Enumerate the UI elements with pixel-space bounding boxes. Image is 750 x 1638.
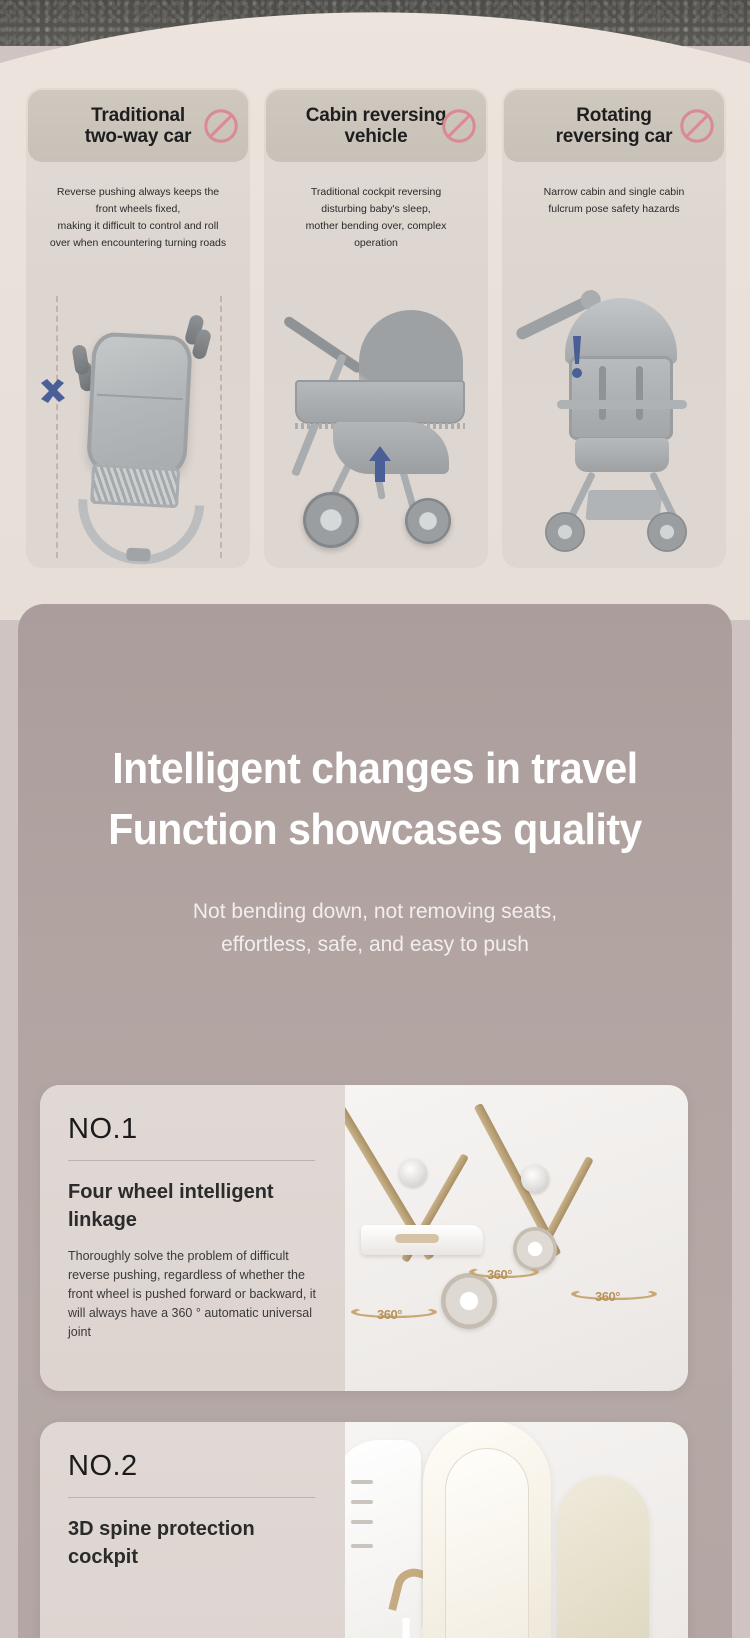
wheel-icon — [405, 498, 451, 544]
problem-card-description: Reverse pushing always keeps the front w… — [36, 184, 240, 252]
feature-card-text-panel: NO.1 Four wheel intelligent linkage Thor… — [40, 1085, 345, 1391]
blue-arrow-marker — [367, 444, 393, 484]
seat-cushion-side — [557, 1476, 649, 1638]
feature-card-text-panel: NO.2 3D spine protection cockpit — [40, 1422, 345, 1638]
problem-card-cabin-reversing-vehicle[interactable]: Cabin reversing vehicle Traditional cock… — [264, 88, 488, 568]
feature-card-no1[interactable]: NO.1 Four wheel intelligent linkage Thor… — [40, 1085, 688, 1391]
problems-section: Traditional two-way car Reverse pushing … — [0, 0, 750, 620]
prohibition-icon — [678, 107, 716, 145]
hero-title-line-2: Function showcases quality — [43, 800, 707, 861]
problem-card-title: Traditional two-way car — [85, 105, 192, 148]
feature-card-heading: Four wheel intelligent linkage — [68, 1178, 319, 1235]
rotation-ring-label: 360° — [377, 1307, 402, 1322]
wheel-icon — [513, 1227, 557, 1271]
feature-card-no2[interactable]: NO.2 3D spine protection cockpit — [40, 1422, 688, 1638]
feature-card-body: Thoroughly solve the problem of difficul… — [68, 1247, 319, 1342]
hero-subtitle: Not bending down, not removing seats, ef… — [18, 896, 732, 961]
stroller-side-view-illustration — [264, 278, 488, 568]
problem-card-description: Narrow cabin and single cabin fulcrum po… — [512, 184, 716, 218]
prohibition-icon — [202, 107, 240, 145]
stroller-seat-top — [86, 332, 193, 477]
stroller-frame-360-wheels-photo: 360° 360° 360° — [345, 1085, 688, 1391]
stroller-cot — [295, 380, 465, 424]
stroller-side-view — [281, 292, 471, 554]
feature-card-number: NO.2 — [68, 1450, 319, 1483]
problem-card-traditional-two-way-car[interactable]: Traditional two-way car Reverse pushing … — [26, 88, 250, 568]
blue-exclamation-marker — [567, 334, 587, 380]
problem-cards-row: Traditional two-way car Reverse pushing … — [26, 88, 726, 568]
problem-card-header: Rotating reversing car — [504, 90, 724, 162]
problem-card-description: Traditional cockpit reversing disturbing… — [274, 184, 478, 252]
problem-card-rotating-reversing-car[interactable]: Rotating reversing car Narrow cabin and … — [502, 88, 726, 568]
hero-section: Intelligent changes in travel Function s… — [18, 604, 732, 1638]
rotation-ring-label: 360° — [595, 1289, 620, 1304]
divider — [68, 1497, 315, 1498]
stroller-front-view — [519, 294, 709, 554]
joint-hub — [521, 1165, 549, 1193]
hero-subtitle-line-1: Not bending down, not removing seats, — [18, 896, 732, 929]
lane-line-left — [56, 296, 58, 558]
stroller-top-view — [68, 303, 209, 559]
rotation-ring-label: 360° — [487, 1267, 512, 1282]
stroller-handle — [75, 499, 204, 568]
stroller-seat-cushion-photo — [345, 1422, 688, 1638]
divider — [68, 1160, 315, 1161]
problem-card-title: Rotating reversing car — [556, 105, 673, 148]
stroller-top-down-illustration — [26, 278, 250, 568]
hero-subtitle-line-2: effortless, safe, and easy to push — [18, 929, 732, 962]
stroller-front-view-illustration — [502, 278, 726, 568]
wheel-icon — [303, 492, 359, 548]
feature-card-number: NO.1 — [68, 1113, 319, 1146]
problem-card-header: Traditional two-way car — [28, 90, 248, 162]
wheel-icon — [647, 512, 687, 552]
hero-title: Intelligent changes in travel Function s… — [43, 739, 707, 860]
blue-x-marker — [36, 374, 70, 408]
prohibition-icon — [440, 107, 478, 145]
stroller-tray — [361, 1225, 483, 1255]
lane-line-right — [220, 296, 222, 558]
stroller-legs — [519, 294, 709, 554]
problem-card-header: Cabin reversing vehicle — [266, 90, 486, 162]
hero-title-line-1: Intelligent changes in travel — [43, 739, 707, 800]
feature-card-heading: 3D spine protection cockpit — [68, 1515, 319, 1572]
problem-card-title: Cabin reversing vehicle — [306, 105, 447, 148]
joint-hub — [399, 1159, 427, 1187]
wheel-icon — [545, 512, 585, 552]
seat-cushion-main — [423, 1422, 551, 1638]
wheel-icon — [71, 344, 90, 376]
